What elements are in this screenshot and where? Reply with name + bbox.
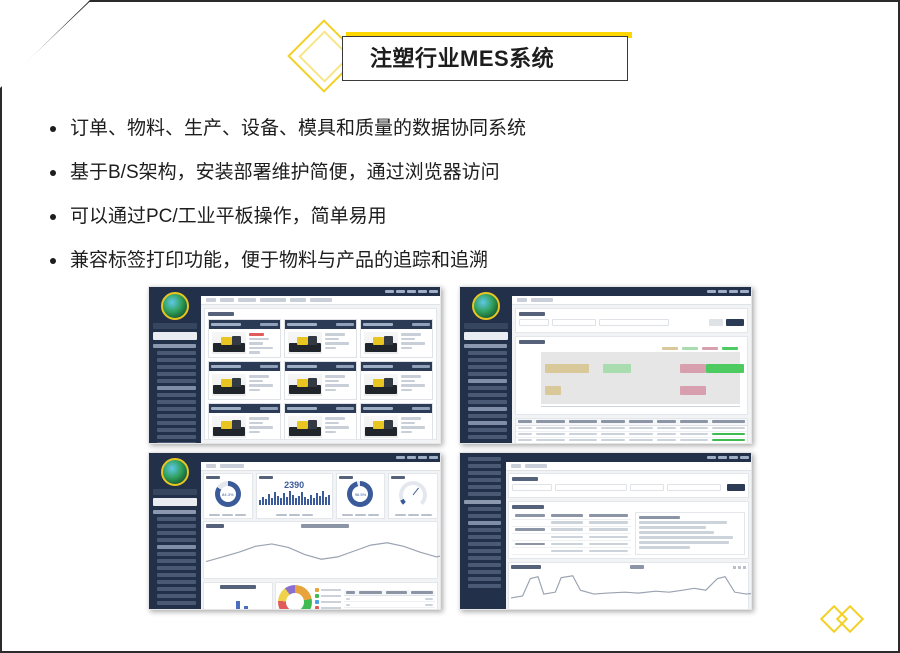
machine-image	[364, 332, 398, 354]
table-row	[512, 540, 631, 547]
sidebar-group-label	[153, 344, 196, 348]
title-block: 注塑行业MES系统	[298, 26, 628, 88]
kpi-row: 84.3% 2390	[203, 473, 438, 519]
table-row[interactable]	[344, 608, 435, 609]
sparkline-chart	[259, 491, 330, 505]
bullet-text: 基于B/S架构，安装部署维护简便，通过浏览器访问	[70, 158, 500, 188]
panel-title	[519, 340, 545, 344]
tab-active[interactable]	[525, 464, 547, 468]
query-panel	[508, 473, 749, 498]
sidebar-item[interactable]	[468, 386, 507, 390]
screenshot-equipment-monitor-grid[interactable]	[148, 286, 441, 444]
parameter-table	[512, 512, 631, 555]
bullet-list: 订单、物料、生产、设备、模具和质量的数据协同系统 基于B/S架构，安装部署维护简…	[50, 114, 670, 290]
sidebar-item[interactable]	[468, 563, 501, 567]
bullet-dot-icon	[50, 214, 56, 220]
tab-strip	[512, 296, 751, 305]
sidebar-item[interactable]	[157, 393, 196, 397]
kpi-value: 96.5%	[347, 481, 373, 507]
sidebar-item[interactable]	[157, 400, 196, 404]
legend-swatch	[722, 347, 738, 350]
panel-title	[512, 477, 538, 481]
app-topbar	[512, 287, 751, 296]
tab-active[interactable]	[310, 298, 332, 302]
sidebar-search-input[interactable]	[153, 332, 197, 340]
query-select-param[interactable]	[630, 484, 664, 491]
sidebar-item[interactable]	[468, 535, 501, 539]
query-select-device[interactable]	[512, 484, 552, 491]
topbar-action[interactable]	[418, 290, 427, 293]
tab-home[interactable]	[206, 298, 216, 302]
sidebar-item[interactable]	[468, 507, 501, 511]
sidebar-item[interactable]	[468, 464, 501, 468]
machine-image	[212, 332, 246, 354]
tab-home[interactable]	[511, 464, 521, 468]
tab-item[interactable]	[260, 298, 286, 302]
slide-canvas: 注塑行业MES系统 订单、物料、生产、设备、模具和质量的数据协同系统 基于B/S…	[2, 2, 898, 651]
sidebar-item[interactable]	[468, 584, 501, 588]
work-order-table-panel	[515, 418, 748, 443]
sidebar-item[interactable]	[468, 435, 507, 439]
kpi-card-utilization[interactable]: 84.3%	[203, 473, 253, 519]
sidebar-item[interactable]	[157, 428, 196, 432]
bar-chart	[206, 591, 270, 609]
sidebar-item[interactable]	[157, 524, 196, 528]
speedometer-gauge	[399, 481, 427, 509]
parameter-trend-chart	[511, 569, 751, 609]
slide-root: 注塑行业MES系统 订单、物料、生产、设备、模具和质量的数据协同系统 基于B/S…	[0, 0, 900, 653]
sidebar-item[interactable]	[468, 393, 507, 397]
sidebar-item[interactable]	[157, 587, 196, 591]
machine-image	[364, 374, 398, 396]
sidebar-item[interactable]	[157, 421, 196, 425]
kpi-value: 2390	[284, 480, 304, 490]
list-item: 订单、物料、生产、设备、模具和质量的数据协同系统	[50, 114, 670, 144]
equipment-card[interactable]	[284, 361, 357, 400]
topbar-action[interactable]	[418, 456, 427, 459]
gantt-bar[interactable]	[680, 364, 706, 373]
machine-image	[212, 416, 246, 438]
list-item: 可以通过PC/工业平板操作，简单易用	[50, 202, 670, 232]
bullet-text: 可以通过PC/工业平板操作，简单易用	[70, 202, 387, 232]
topbar-action[interactable]	[718, 290, 727, 293]
sidebar-item[interactable]	[157, 594, 196, 598]
topbar-action[interactable]	[407, 290, 416, 293]
sidebar-item[interactable]	[468, 351, 507, 355]
app-topbar	[201, 453, 440, 462]
tab-strip	[506, 462, 751, 471]
sidebar-item[interactable]	[468, 457, 501, 461]
sidebar-item[interactable]	[157, 566, 196, 570]
screenshot-production-schedule-gantt[interactable]	[459, 286, 752, 444]
sidebar-item[interactable]	[468, 556, 501, 560]
gantt-bar[interactable]	[603, 364, 631, 373]
sidebar-search-input[interactable]	[464, 332, 508, 340]
legend-swatch	[702, 347, 718, 350]
gantt-panel	[515, 336, 748, 415]
topbar-action[interactable]	[718, 456, 727, 459]
bullet-text: 订单、物料、生产、设备、模具和质量的数据协同系统	[70, 114, 526, 144]
tab-home[interactable]	[517, 298, 527, 302]
sidebar-item[interactable]	[468, 358, 507, 362]
sidebar-item[interactable]	[468, 577, 501, 581]
gantt-time-axis	[541, 406, 740, 411]
panel-title	[208, 312, 234, 316]
tab-strip	[201, 296, 440, 305]
company-name-label	[153, 323, 197, 329]
query-date-range[interactable]	[667, 484, 721, 491]
topbar-action[interactable]	[385, 290, 394, 293]
search-button[interactable]	[726, 319, 744, 326]
sidebar-item[interactable]	[468, 549, 501, 553]
bullet-dot-icon	[50, 126, 56, 132]
query-select-mold[interactable]	[555, 484, 627, 491]
query-button[interactable]	[727, 484, 745, 491]
sidebar-item[interactable]	[157, 414, 196, 418]
app-sidebar	[460, 287, 512, 443]
equipment-card-grid	[208, 319, 433, 440]
gantt-legend	[519, 347, 744, 350]
app-sidebar	[460, 453, 506, 609]
gantt-bar[interactable]	[545, 386, 561, 395]
sidebar-item[interactable]	[468, 542, 501, 546]
sidebar-item[interactable]	[468, 372, 507, 376]
corner-diamond-icon	[836, 605, 864, 633]
filter-input[interactable]	[599, 319, 669, 326]
topbar-action[interactable]	[396, 290, 405, 293]
topbar-user[interactable]	[740, 456, 749, 459]
sidebar-item-active[interactable]	[157, 386, 196, 390]
app-topbar	[506, 453, 751, 462]
equipment-card[interactable]	[284, 319, 357, 358]
screenshot-gallery: 84.3% 2390	[148, 286, 770, 611]
topbar-user[interactable]	[429, 456, 438, 459]
sidebar-item[interactable]	[157, 573, 196, 577]
sidebar-group-label	[153, 510, 196, 514]
sidebar-item[interactable]	[468, 400, 507, 404]
tab-active[interactable]	[220, 464, 244, 468]
gauge-needle-icon	[413, 488, 419, 496]
bullet-dot-icon	[50, 170, 56, 176]
tab-active[interactable]	[531, 298, 553, 302]
screenshot-process-parameter-trend[interactable]	[459, 452, 752, 610]
trend-line-chart	[206, 531, 440, 571]
topbar-action[interactable]	[729, 456, 738, 459]
app-logo-icon	[472, 292, 500, 320]
sidebar-item-active[interactable]	[468, 407, 507, 411]
sidebar-item-active[interactable]	[468, 521, 501, 525]
sidebar-item[interactable]	[468, 365, 507, 369]
machine-image	[364, 416, 398, 438]
sidebar-item[interactable]	[468, 514, 501, 518]
summary-table-top	[344, 590, 435, 609]
filter-panel	[515, 308, 748, 333]
equipment-card[interactable]	[360, 319, 433, 358]
donut-panel-top	[275, 582, 438, 609]
sidebar-item[interactable]	[157, 601, 196, 605]
sidebar-item[interactable]	[157, 559, 196, 563]
filter-select[interactable]	[519, 319, 549, 326]
topbar-user[interactable]	[740, 290, 749, 293]
panel-title	[519, 312, 545, 316]
equipment-card[interactable]	[360, 403, 433, 440]
sidebar-item[interactable]	[468, 528, 501, 532]
sidebar-item[interactable]	[468, 471, 501, 475]
sidebar-item[interactable]	[157, 435, 196, 439]
app-sidebar	[149, 453, 201, 609]
sidebar-item-active[interactable]	[157, 545, 196, 549]
topbar-action[interactable]	[396, 456, 405, 459]
kpi-value: 84.3%	[215, 481, 241, 507]
equipment-card[interactable]	[208, 403, 281, 440]
gantt-bar[interactable]	[680, 386, 706, 395]
machine-image	[288, 374, 322, 396]
kpi-card-output[interactable]: 2390	[256, 473, 333, 519]
sidebar-item[interactable]	[468, 428, 507, 432]
sidebar-item[interactable]	[157, 372, 196, 376]
list-item: 兼容标签打印功能，便于物料与产品的追踪和追溯	[50, 246, 670, 276]
donut-gauge: 84.3%	[215, 481, 241, 507]
topbar-action[interactable]	[707, 456, 716, 459]
table-row	[512, 526, 631, 533]
tab-item[interactable]	[220, 298, 234, 302]
work-order-table	[516, 419, 747, 443]
sidebar-item[interactable]	[157, 552, 196, 556]
filter-input[interactable]	[552, 319, 596, 326]
sidebar-item[interactable]	[468, 478, 501, 482]
sidebar-item[interactable]	[157, 379, 196, 383]
table-row	[512, 547, 631, 554]
sidebar-item[interactable]	[157, 358, 196, 362]
machine-image	[288, 416, 322, 438]
gantt-bar[interactable]	[706, 364, 744, 373]
legend-swatch	[682, 347, 698, 350]
sidebar-item[interactable]	[468, 485, 501, 489]
gantt-bar[interactable]	[545, 364, 589, 373]
sidebar-group-label	[464, 500, 501, 504]
sidebar-item-active[interactable]	[468, 379, 507, 383]
corner-ornament	[818, 605, 874, 635]
topbar-action[interactable]	[729, 290, 738, 293]
donut-legend	[315, 588, 341, 609]
parameter-detail-panel	[508, 501, 749, 559]
topbar-action[interactable]	[407, 456, 416, 459]
sidebar-item[interactable]	[157, 531, 196, 535]
bar-chart-panel	[203, 582, 273, 609]
notes-box	[635, 512, 745, 555]
kpi-card-quality[interactable]: 96.5%	[336, 473, 386, 519]
page-title: 注塑行业MES系统	[370, 42, 620, 76]
bullet-text: 兼容标签打印功能，便于物料与产品的追踪和追溯	[70, 246, 488, 276]
trend-chart-panel	[508, 562, 749, 609]
app-logo-icon	[161, 292, 189, 320]
equipment-card[interactable]	[208, 319, 281, 358]
sidebar-search-input[interactable]	[153, 498, 197, 506]
sidebar-item[interactable]	[157, 365, 196, 369]
company-name-label	[464, 323, 508, 329]
table-row	[512, 533, 631, 540]
sidebar-group-label	[464, 344, 507, 348]
sidebar-item[interactable]	[157, 580, 196, 584]
bullet-dot-icon	[50, 258, 56, 264]
sidebar-item[interactable]	[157, 407, 196, 411]
sidebar-item[interactable]	[468, 570, 501, 574]
equipment-card[interactable]	[360, 361, 433, 400]
tab-item[interactable]	[238, 298, 256, 302]
app-topbar	[201, 287, 440, 296]
machine-image	[212, 374, 246, 396]
table-row	[512, 519, 631, 526]
donut-chart	[278, 585, 312, 609]
panel-title	[512, 505, 544, 509]
sidebar-item[interactable]	[157, 517, 196, 521]
gantt-chart[interactable]	[541, 352, 740, 404]
legend-swatch	[662, 347, 678, 350]
machine-image	[288, 332, 322, 354]
table-row	[512, 512, 631, 519]
reset-button[interactable]	[709, 319, 723, 326]
sidebar-item[interactable]	[468, 492, 501, 496]
company-name-label	[153, 489, 197, 495]
list-item: 基于B/S架构，安装部署维护简便，通过浏览器访问	[50, 158, 670, 188]
sidebar-item[interactable]	[468, 414, 507, 418]
kpi-card-scrap[interactable]	[388, 473, 438, 519]
topbar-user[interactable]	[429, 290, 438, 293]
tab-item[interactable]	[290, 298, 306, 302]
sidebar-item[interactable]	[157, 538, 196, 542]
donut-gauge: 96.5%	[347, 481, 373, 507]
equipment-card[interactable]	[284, 403, 357, 440]
tab-strip	[201, 462, 440, 471]
screenshot-production-dashboard[interactable]: 84.3% 2390	[148, 452, 441, 610]
tab-home[interactable]	[206, 464, 216, 468]
topbar-action[interactable]	[707, 290, 716, 293]
sidebar-item-active[interactable]	[468, 421, 507, 425]
bevel-corner-line	[0, 0, 92, 87]
sidebar-item[interactable]	[157, 442, 196, 443]
trend-line-panel	[203, 521, 438, 579]
sidebar-item[interactable]	[157, 351, 196, 355]
app-sidebar	[149, 287, 201, 443]
app-logo-icon	[161, 458, 189, 486]
equipment-card[interactable]	[208, 361, 281, 400]
